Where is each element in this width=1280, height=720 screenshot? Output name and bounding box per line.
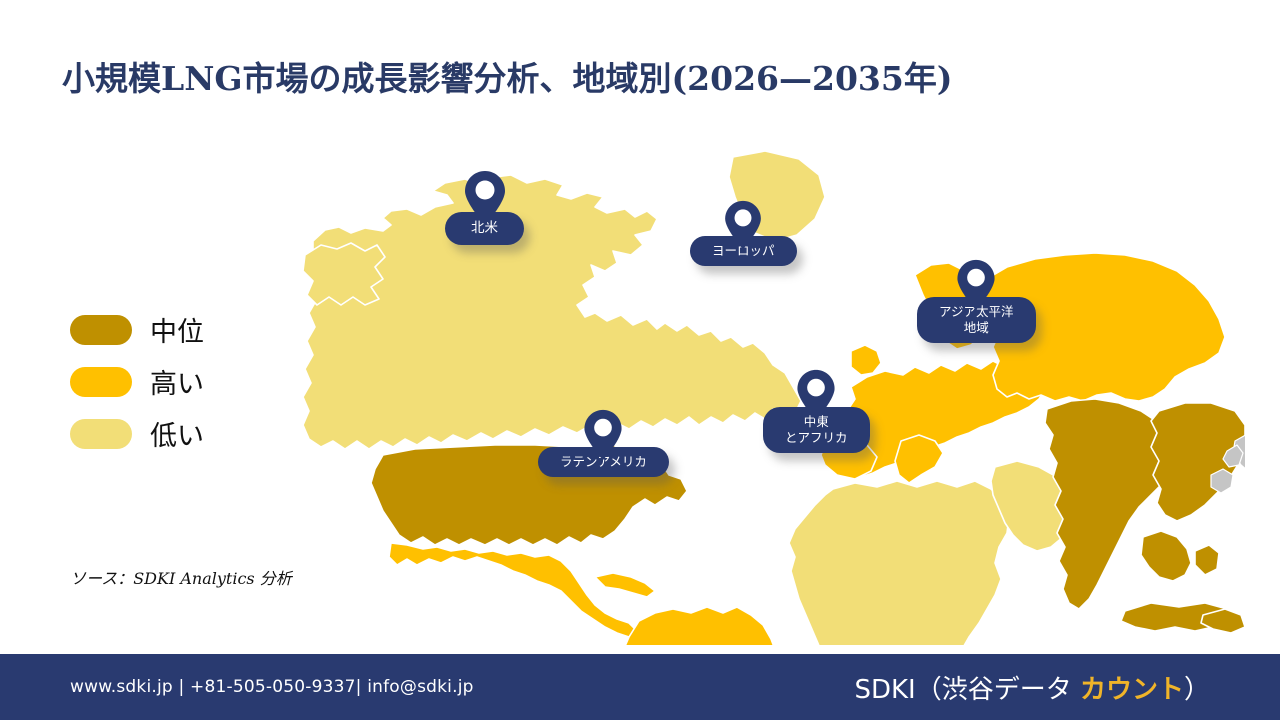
legend-item-medium: 中位	[70, 310, 204, 349]
legend-swatch-medium	[70, 315, 132, 345]
map-marker-north-america[interactable]: 北米	[445, 170, 524, 245]
page-title: 小規模LNG市場の成長影響分析、地域別(2026—2035年)	[62, 52, 952, 100]
legend-swatch-low	[70, 419, 132, 449]
footer-bar: www.sdki.jp | +81-505-050-9337| info@sdk…	[0, 654, 1280, 720]
location-pin-icon	[583, 409, 623, 461]
footer-logo-prefix: SDKI（渋谷データ	[854, 675, 1080, 705]
footer-logo-suffix: ）	[1184, 675, 1210, 705]
legend-swatch-high	[70, 367, 132, 397]
location-pin-icon	[956, 259, 996, 311]
legend-item-low: 低い	[70, 414, 204, 453]
legend-item-high: 高い	[70, 362, 204, 401]
location-pin-icon	[464, 170, 506, 226]
region-alaska	[303, 243, 385, 305]
region-philippines	[1195, 545, 1219, 575]
map-marker-asia-pacific[interactable]: アジア太平洋 地域	[917, 259, 1036, 343]
region-italy-balkans	[895, 435, 943, 483]
source-note: ソース：SDKI Analytics 分析	[70, 565, 292, 589]
region-africa	[789, 481, 1009, 645]
legend: 中位 高い 低い	[70, 310, 204, 453]
world-map: 北米 ヨーロッパ アジア太平洋 地域 中東 とアフリカ ラテンアメリカ	[295, 145, 1245, 645]
footer-contact[interactable]: www.sdki.jp | +81-505-050-9337| info@sdk…	[70, 677, 474, 697]
footer-logo-accent: カウント	[1080, 675, 1184, 705]
location-pin-icon	[724, 200, 762, 250]
region-caribbean	[595, 573, 655, 597]
legend-label-low: 低い	[150, 414, 204, 453]
region-southeast-asia	[1141, 531, 1191, 581]
legend-label-medium: 中位	[150, 310, 204, 349]
map-marker-latin-america[interactable]: ラテンアメリカ	[538, 409, 669, 477]
location-pin-icon	[796, 369, 836, 421]
region-mexico-central-america	[389, 543, 637, 637]
map-marker-europe[interactable]: ヨーロッパ	[690, 200, 797, 266]
legend-label-high: 高い	[150, 362, 204, 401]
footer-logo: SDKI（渋谷データ カウント）	[854, 669, 1210, 706]
map-marker-middle-east-africa[interactable]: 中東 とアフリカ	[763, 369, 870, 453]
